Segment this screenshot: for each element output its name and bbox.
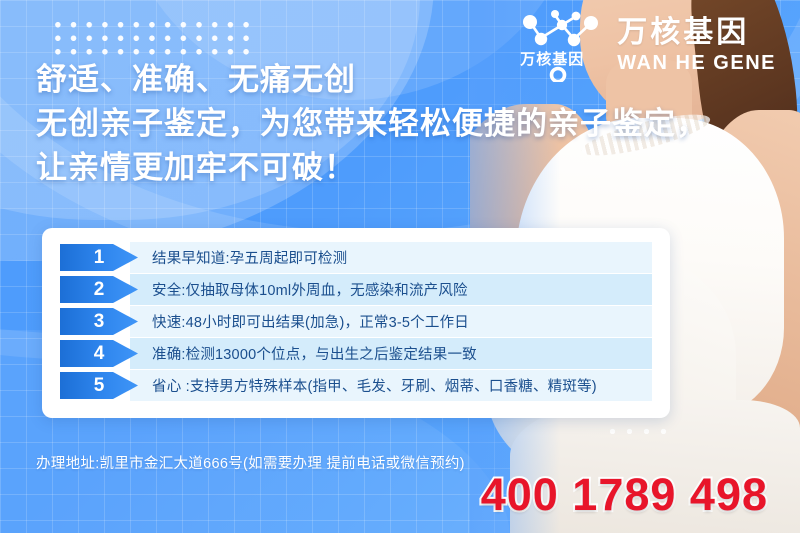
molecule-network-icon: 万核基因 [517, 8, 609, 82]
feature-text: 安全:仅抽取母体10ml外周血，无感染和流产风险 [130, 279, 468, 300]
list-item: 2 安全:仅抽取母体10ml外周血，无感染和流产风险 [60, 274, 652, 305]
list-item: 1 结果早知道:孕五周起即可检测 [60, 242, 652, 273]
address-text: 办理地址:凯里市金汇大道666号(如需要办理 提前电话或微信预约) [36, 452, 465, 473]
feature-card: 1 结果早知道:孕五周起即可检测 2 安全:仅抽取母体10ml外周血，无感染和流… [42, 228, 670, 418]
feature-text: 结果早知道:孕五周起即可检测 [130, 247, 347, 268]
brand-logo[interactable]: 万核基因 万核基因 WAN HE GENE [517, 8, 776, 82]
list-item: 3 快速:48小时即可出结果(加急)，正常3-5个工作日 [60, 306, 652, 337]
dot-matrix-decor [50, 18, 254, 58]
feature-number-badge: 5 [60, 372, 138, 399]
feature-text: 快速:48小时即可出结果(加急)，正常3-5个工作日 [130, 311, 469, 332]
brand-name-block: 万核基因 WAN HE GENE [617, 18, 776, 73]
feature-list: 1 结果早知道:孕五周起即可检测 2 安全:仅抽取母体10ml外周血，无感染和流… [60, 242, 652, 401]
feature-number-badge: 3 [60, 308, 138, 335]
feature-number-badge: 1 [60, 244, 138, 271]
brand-name-cn: 万核基因 [617, 18, 776, 48]
feature-text: 准确:检测13000个位点，与出生之后鉴定结果一致 [130, 343, 477, 364]
list-item: 5 省心 :支持男方特殊样本(指甲、毛发、牙刷、烟蒂、口香糖、精斑等) [60, 370, 652, 401]
brand-name-en: WAN HE GENE [617, 53, 776, 73]
phone-number[interactable]: 400 1789 498 [481, 469, 768, 521]
headline-line-2: 无创亲子鉴定，为您带来轻松便捷的亲子鉴定， [36, 102, 708, 146]
headline-line-3: 让亲情更加牢不可破！ [36, 146, 708, 190]
feature-text: 省心 :支持男方特殊样本(指甲、毛发、牙刷、烟蒂、口香糖、精斑等) [130, 375, 597, 396]
feature-number-badge: 4 [60, 340, 138, 367]
logo-mark-label: 万核基因 [520, 48, 584, 69]
list-item: 4 准确:检测13000个位点，与出生之后鉴定结果一致 [60, 338, 652, 369]
feature-number-badge: 2 [60, 276, 138, 303]
promo-banner: 万核基因 万核基因 WAN HE GENE 舒适、准确、无痛无创 无创亲子鉴定，… [0, 0, 800, 533]
